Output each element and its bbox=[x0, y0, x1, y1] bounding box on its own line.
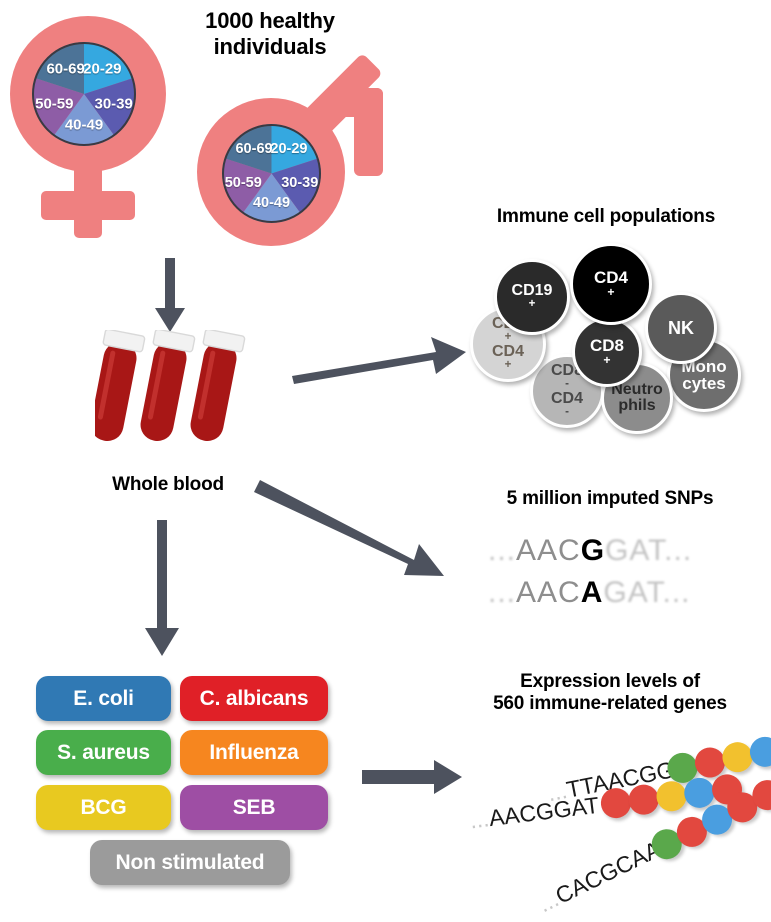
page-title: 1000 healthy individuals bbox=[160, 8, 380, 60]
snp-variant-base: G bbox=[581, 534, 605, 567]
snp-allele-g: ...AACGGAT... bbox=[488, 534, 692, 568]
stimulation-chip-c-albicans[interactable]: C. albicans bbox=[180, 676, 328, 721]
immune-cell-cd4: CD4+ bbox=[570, 243, 652, 325]
immune-cell-label: Neutrophils bbox=[611, 382, 663, 415]
age-label-30-39: 30-39 bbox=[94, 95, 132, 112]
blood-tubes-glyph bbox=[95, 330, 250, 455]
snp-right-bases: GAT bbox=[603, 576, 662, 609]
stimulation-chip-e-coli[interactable]: E. coli bbox=[36, 676, 171, 721]
snps-title: 5 million imputed SNPs bbox=[450, 488, 770, 510]
blood-tubes bbox=[95, 330, 250, 460]
stimulation-chip-influenza[interactable]: Influenza bbox=[180, 730, 328, 775]
stimulation-chip-s-aureus[interactable]: S. aureus bbox=[36, 730, 171, 775]
immune-cell-label: CD19+ bbox=[512, 283, 553, 311]
expression-title: Expression levels of 560 immune-related … bbox=[450, 671, 770, 716]
stimulation-chip-bcg[interactable]: BCG bbox=[36, 785, 171, 830]
snp-suffix-ellipsis: ... bbox=[664, 534, 692, 567]
age-label-60-69: 60-69 bbox=[235, 141, 272, 157]
stimulation-chip-seb[interactable]: SEB bbox=[180, 785, 328, 830]
arrow-blood-to-snps bbox=[258, 476, 458, 586]
age-label-30-39: 30-39 bbox=[281, 175, 318, 191]
immune-cell-label: CD4+ bbox=[594, 269, 628, 299]
snp-variant-base: A bbox=[581, 576, 604, 609]
snp-allele-a: ...AACAGAT... bbox=[488, 576, 691, 610]
snp-prefix-ellipsis: ... bbox=[488, 534, 516, 567]
figure-canvas: 20-2930-3940-4950-5960-69 20-2930-3940-4… bbox=[0, 0, 771, 922]
immune-cell-label: NK bbox=[668, 319, 694, 337]
age-label-60-69: 60-69 bbox=[46, 60, 84, 77]
age-label-40-49: 40-49 bbox=[65, 117, 103, 134]
immune-cell-cd19: CD19+ bbox=[494, 259, 570, 335]
snp-right-bases: GAT bbox=[605, 534, 664, 567]
expression-sequence-text: ...AACGGAT bbox=[468, 792, 600, 835]
immune-cell-label: CD8+ bbox=[590, 337, 624, 367]
sequence-bases: AACGGAT bbox=[487, 792, 600, 831]
arrow-cohort-to-blood bbox=[148, 258, 198, 338]
arrow-stimulation-to-expression bbox=[362, 758, 472, 798]
arrow-blood-to-immune bbox=[290, 330, 470, 386]
sequence-bases: CACGCAA bbox=[551, 836, 665, 909]
stimulation-chip-non-stimulated[interactable]: Non stimulated bbox=[90, 840, 290, 885]
immune-cell-cd8: CD8+ bbox=[572, 317, 642, 387]
snp-left-bases: AAC bbox=[516, 576, 581, 609]
immune-populations-title: Immune cell populations bbox=[446, 206, 766, 228]
expression-bead bbox=[627, 783, 660, 816]
snp-suffix-ellipsis: ... bbox=[663, 576, 691, 609]
age-label-20-29: 20-29 bbox=[270, 141, 307, 157]
snp-left-bases: AAC bbox=[516, 534, 581, 567]
female-age-pie: 20-2930-3940-4950-5960-69 bbox=[32, 42, 136, 146]
whole-blood-label: Whole blood bbox=[78, 474, 258, 496]
age-label-40-49: 40-49 bbox=[253, 195, 290, 211]
arrow-blood-to-stimulation bbox=[140, 520, 190, 660]
male-age-pie: 20-2930-3940-4950-5960-69 bbox=[222, 124, 321, 223]
age-label-20-29: 20-29 bbox=[83, 60, 121, 77]
expression-bead bbox=[655, 780, 688, 813]
age-label-50-59: 50-59 bbox=[225, 175, 262, 191]
immune-cell-nk: NK bbox=[645, 292, 717, 364]
age-label-50-59: 50-59 bbox=[35, 95, 73, 112]
expression-sequence-text: ...CACGCAA bbox=[534, 836, 665, 919]
snp-prefix-ellipsis: ... bbox=[488, 576, 516, 609]
expression-bead bbox=[599, 786, 632, 819]
